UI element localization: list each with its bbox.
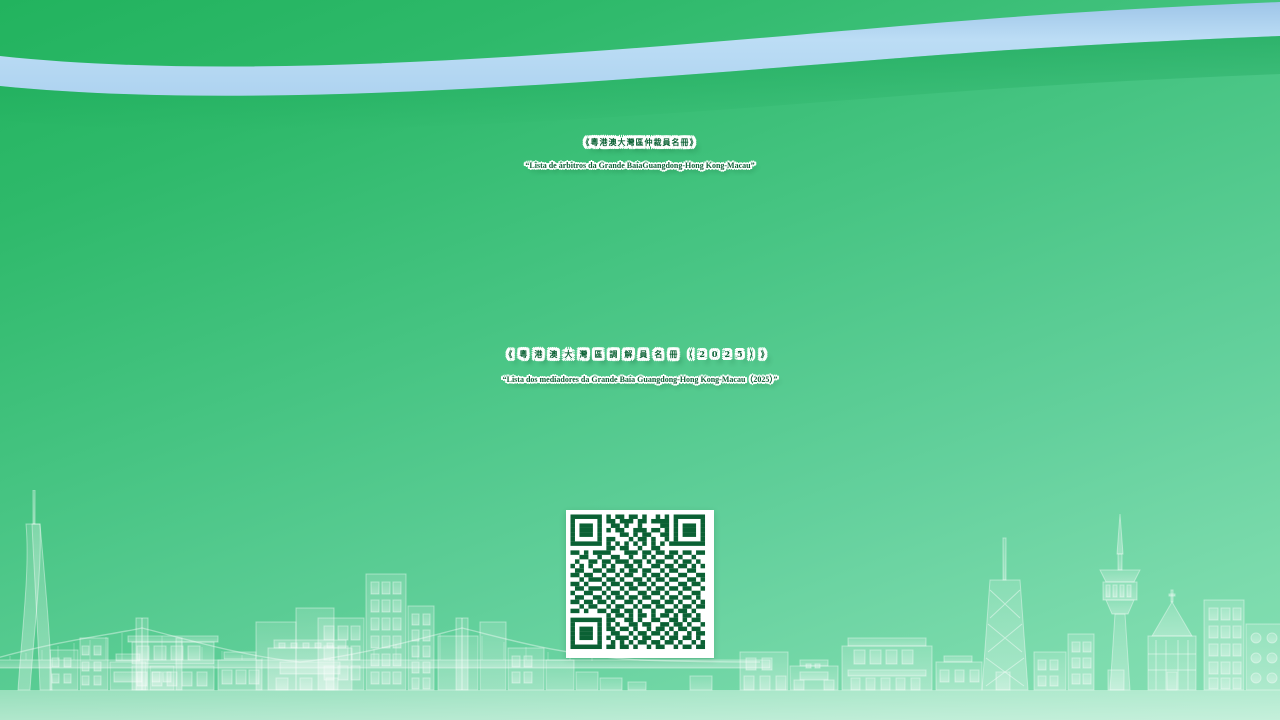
- arbitros-title-latin: “Lista de árbitros da Grande BaíaGuangdo…: [0, 161, 1280, 170]
- title-block-mediadores: 《粵港澳大灣區調解員名冊（2025）》 “Lista dos mediadore…: [0, 350, 1280, 384]
- mediadores-title-latin: “Lista dos mediadores da Grande Baía Gua…: [0, 375, 1280, 384]
- poster-content: 《粵港澳大灣區仲裁員名冊》 “Lista de árbitros da Gran…: [0, 0, 1280, 720]
- poster-canvas: 《粵港澳大灣區仲裁員名冊》 “Lista de árbitros da Gran…: [0, 0, 1280, 720]
- arbitros-title-cjk: 《粵港澳大灣區仲裁員名冊》: [0, 138, 1280, 147]
- qr-code[interactable]: [566, 510, 714, 658]
- title-block-arbitros: 《粵港澳大灣區仲裁員名冊》 “Lista de árbitros da Gran…: [0, 138, 1280, 170]
- mediadores-title-cjk: 《粵港澳大灣區調解員名冊（2025）》: [0, 350, 1280, 359]
